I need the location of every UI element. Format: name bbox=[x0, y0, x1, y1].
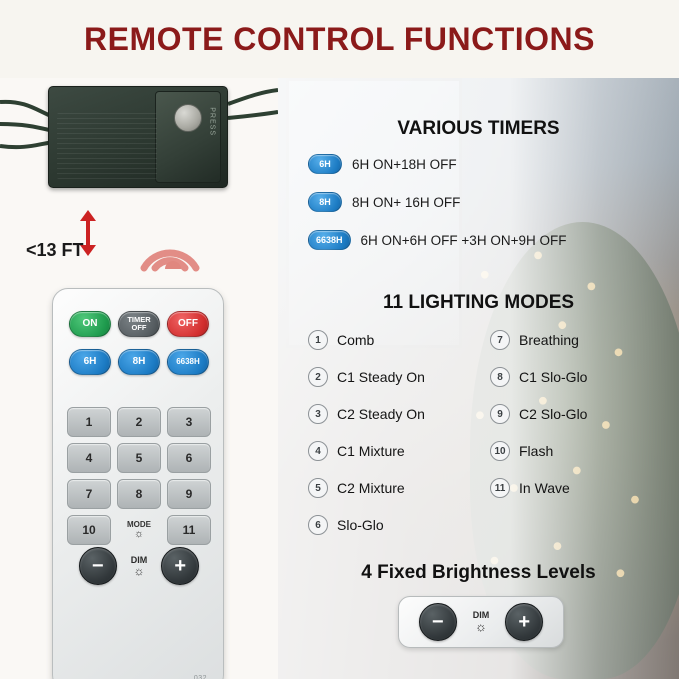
mode-item-2: 2 C1 Steady On bbox=[308, 367, 425, 387]
remote-dim-row: − DIM ☼ + bbox=[53, 547, 225, 585]
mode-number: 6 bbox=[308, 515, 328, 535]
mode-label: Slo-Glo bbox=[337, 517, 384, 533]
timer-row: 6H 6H ON+18H OFF bbox=[308, 154, 457, 174]
mode-number: 3 bbox=[308, 404, 328, 424]
timer-row: 6638H 6H ON+6H OFF +3H ON+9H OFF bbox=[308, 230, 566, 250]
mode-number: 1 bbox=[308, 330, 328, 350]
timer-text-8h: 8H ON+ 16H OFF bbox=[352, 195, 460, 210]
mode-label: C2 Steady On bbox=[337, 406, 425, 422]
distance-indicator: <13 FT bbox=[0, 226, 278, 274]
mode-number: 11 bbox=[490, 478, 510, 498]
mode-label: In Wave bbox=[519, 480, 570, 496]
timer-pill-6h: 6H bbox=[308, 154, 342, 174]
mode-number: 9 bbox=[490, 404, 510, 424]
mode-item-5: 5 C2 Mixture bbox=[308, 478, 405, 498]
mode-label: C2 Mixture bbox=[337, 480, 405, 496]
remote-on-button[interactable]: ON bbox=[69, 311, 111, 337]
brightness-dim-label-group: DIM ☼ bbox=[473, 610, 490, 634]
remote-timer-off-button[interactable]: TIMER OFF bbox=[118, 311, 160, 337]
remote-row-timers: 6H 8H 6638H bbox=[53, 349, 225, 375]
sun-icon: ☼ bbox=[134, 529, 144, 540]
mode-label: C1 Slo-Glo bbox=[519, 369, 587, 385]
mode-number: 5 bbox=[308, 478, 328, 498]
timer-text-6638h: 6H ON+6H OFF +3H ON+9H OFF bbox=[361, 233, 567, 248]
mode-number: 10 bbox=[490, 441, 510, 461]
remote-number-8[interactable]: 8 bbox=[117, 479, 161, 509]
remote-number-2[interactable]: 2 bbox=[117, 407, 161, 437]
remote-number-4[interactable]: 4 bbox=[67, 443, 111, 473]
mode-number: 8 bbox=[490, 367, 510, 387]
remote-number-9[interactable]: 9 bbox=[167, 479, 211, 509]
mode-item-6: 6 Slo-Glo bbox=[308, 515, 384, 535]
page-title: REMOTE CONTROL FUNCTIONS bbox=[84, 21, 595, 58]
timer-pill-8h: 8H bbox=[308, 192, 342, 212]
mode-label: Comb bbox=[337, 332, 374, 348]
brightness-icon: ☼ bbox=[475, 620, 487, 634]
led-controller-image: PRESS bbox=[0, 80, 278, 200]
remote-control: ON TIMER OFF OFF 6H 8H 6638H 1 2 3 4 5 6… bbox=[52, 288, 224, 679]
left-panel: PRESS <13 FT ON TIM bbox=[0, 78, 278, 679]
remote-model-code: 032 bbox=[194, 675, 207, 679]
remote-number-11[interactable]: 11 bbox=[167, 515, 211, 545]
mode-item-7: 7 Breathing bbox=[490, 330, 579, 350]
timer-text-6h: 6H ON+18H OFF bbox=[352, 157, 457, 172]
remote-6h-button[interactable]: 6H bbox=[69, 349, 111, 375]
mode-item-4: 4 C1 Mixture bbox=[308, 441, 405, 461]
mode-label: C2 Slo-Glo bbox=[519, 406, 587, 422]
brightness-plus-button[interactable]: + bbox=[505, 603, 543, 641]
remote-number-3[interactable]: 3 bbox=[167, 407, 211, 437]
timers-section-title: VARIOUS TIMERS bbox=[278, 118, 679, 140]
right-panel: VARIOUS TIMERS 6H 6H ON+18H OFF 8H 8H ON… bbox=[278, 78, 679, 679]
mode-label: C1 Steady On bbox=[337, 369, 425, 385]
timer-row: 8H 8H ON+ 16H OFF bbox=[308, 192, 460, 212]
remote-number-7[interactable]: 7 bbox=[67, 479, 111, 509]
remote-number-1[interactable]: 1 bbox=[67, 407, 111, 437]
remote-dim-minus-button[interactable]: − bbox=[79, 547, 117, 585]
remote-off-button[interactable]: OFF bbox=[167, 311, 209, 337]
mode-label: Breathing bbox=[519, 332, 579, 348]
remote-dim-label-group: DIM ☼ bbox=[131, 555, 148, 578]
mode-item-8: 8 C1 Slo-Glo bbox=[490, 367, 587, 387]
controller-press-button[interactable] bbox=[174, 104, 202, 132]
brightness-control-widget: − DIM ☼ + bbox=[398, 596, 564, 648]
mode-item-10: 10 Flash bbox=[490, 441, 553, 461]
controller-press-label: PRESS bbox=[209, 107, 216, 136]
remote-8h-button[interactable]: 8H bbox=[118, 349, 160, 375]
mode-number: 4 bbox=[308, 441, 328, 461]
wifi-signal-icon bbox=[138, 232, 202, 272]
remote-6638h-button[interactable]: 6638H bbox=[167, 349, 209, 375]
timer-pill-6638h: 6638H bbox=[308, 230, 351, 250]
mode-item-9: 9 C2 Slo-Glo bbox=[490, 404, 587, 424]
controller-body: PRESS bbox=[48, 86, 228, 188]
remote-dim-plus-button[interactable]: + bbox=[161, 547, 199, 585]
mode-number: 7 bbox=[490, 330, 510, 350]
mode-item-11: 11 In Wave bbox=[490, 478, 570, 498]
distance-label: <13 FT bbox=[26, 240, 84, 261]
mode-item-1: 1 Comb bbox=[308, 330, 374, 350]
mode-label: Flash bbox=[519, 443, 553, 459]
remote-mode-key[interactable]: MODE ☼ bbox=[117, 515, 161, 545]
remote-number-10[interactable]: 10 bbox=[67, 515, 111, 545]
remote-numberpad: 1 2 3 4 5 6 7 8 9 10 MODE ☼ 11 bbox=[67, 407, 211, 545]
mode-number: 2 bbox=[308, 367, 328, 387]
mode-item-3: 3 C2 Steady On bbox=[308, 404, 425, 424]
remote-row-power: ON TIMER OFF OFF bbox=[53, 311, 225, 337]
header-bar: REMOTE CONTROL FUNCTIONS bbox=[0, 0, 679, 78]
remote-number-6[interactable]: 6 bbox=[167, 443, 211, 473]
brightness-icon: ☼ bbox=[134, 565, 145, 578]
remote-number-5[interactable]: 5 bbox=[117, 443, 161, 473]
brightness-section-title: 4 Fixed Brightness Levels bbox=[278, 562, 679, 584]
controller-lid: PRESS bbox=[155, 91, 221, 183]
modes-section-title: 11 LIGHTING MODES bbox=[278, 292, 679, 314]
mode-label: C1 Mixture bbox=[337, 443, 405, 459]
brightness-minus-button[interactable]: − bbox=[419, 603, 457, 641]
poster-root: REMOTE CONTROL FUNCTIONS PRESS bbox=[0, 0, 679, 679]
remote-dim-label: DIM bbox=[131, 555, 148, 565]
